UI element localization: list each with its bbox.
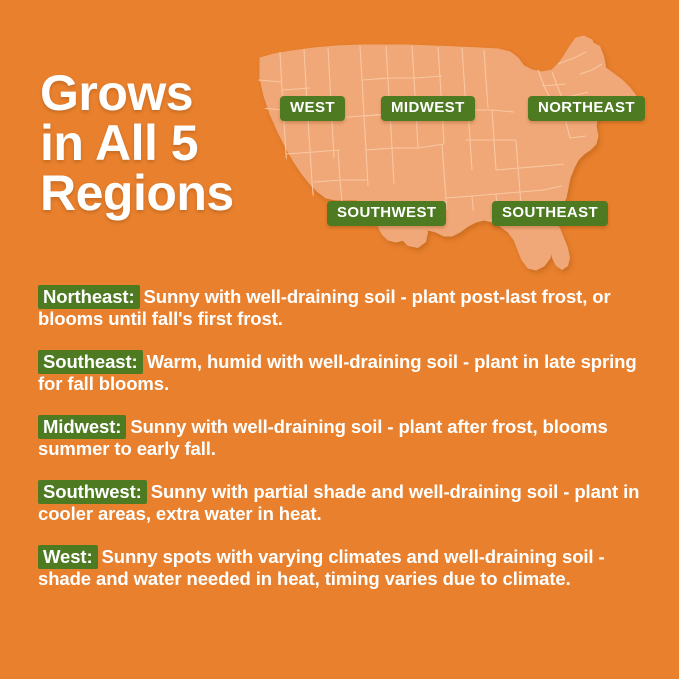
regions-list: Northeast:Sunny with well-draining soil … (38, 286, 648, 589)
region-item-west: West:Sunny spots with varying climates a… (38, 546, 648, 589)
region-tag-southwest: Southwest: (38, 480, 147, 504)
page-title-line-3: Regions (40, 168, 310, 218)
region-item-southwest: Southwest:Sunny with partial shade and w… (38, 481, 648, 524)
map-landmass (260, 36, 636, 270)
map-badge-southwest[interactable]: SOUTHWEST (327, 201, 446, 226)
region-tag-southeast: Southeast: (38, 350, 143, 374)
region-tag-midwest: Midwest: (38, 415, 126, 439)
region-item-southeast: Southeast:Warm, humid with well-draining… (38, 351, 648, 394)
united-states-map: WEST MIDWEST NORTHEAST SOUTHWEST SOUTHEA… (252, 30, 652, 280)
page-title-line-1: Grows (40, 68, 310, 118)
map-badge-northeast[interactable]: NORTHEAST (528, 96, 645, 121)
region-item-northeast: Northeast:Sunny with well-draining soil … (38, 286, 648, 329)
region-tag-west: West: (38, 545, 98, 569)
page-title-line-2: in All 5 (40, 118, 310, 168)
map-badge-southeast[interactable]: SOUTHEAST (492, 201, 608, 226)
page-title: Grows in All 5 Regions (40, 68, 310, 218)
region-description-west: Sunny spots with varying climates and we… (38, 546, 605, 589)
region-tag-northeast: Northeast: (38, 285, 140, 309)
us-map-svg (252, 30, 652, 280)
region-item-midwest: Midwest:Sunny with well-draining soil - … (38, 416, 648, 459)
map-badge-midwest[interactable]: MIDWEST (381, 96, 475, 121)
infographic-page: Grows in All 5 Regions (0, 0, 679, 679)
